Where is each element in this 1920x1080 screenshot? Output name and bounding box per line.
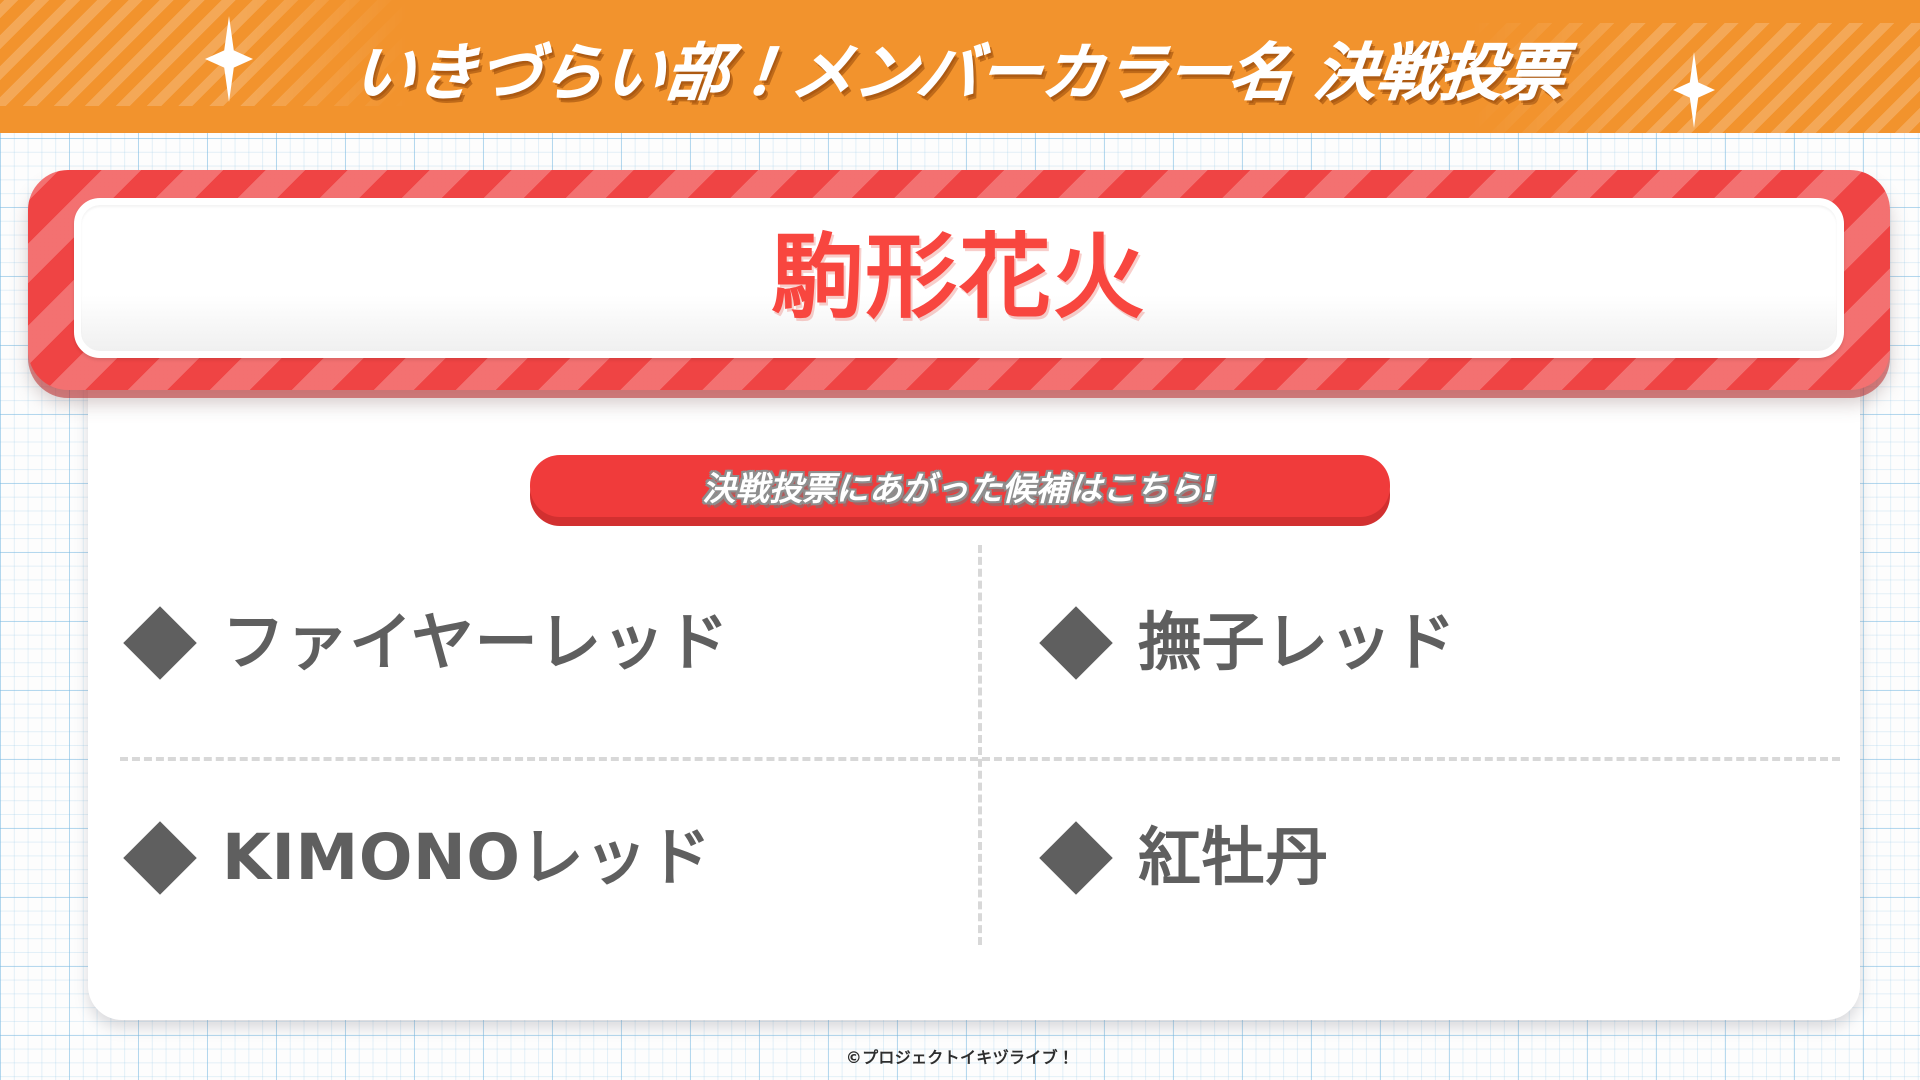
member-name-plate: 駒形花火 — [28, 170, 1890, 390]
page-background: いきづらい部！メンバーカラー名 決戦投票 駒形花火 決戦投票にあがった候補はこち… — [0, 0, 1920, 1080]
candidate-item-2[interactable]: 撫子レッド — [975, 535, 1830, 750]
candidate-item-3[interactable]: KIMONOレッド — [120, 750, 975, 965]
diamond-icon — [123, 606, 197, 680]
candidate-item-1[interactable]: ファイヤーレッド — [120, 535, 975, 750]
diamond-icon — [1039, 821, 1113, 895]
header-banner: いきづらい部！メンバーカラー名 決戦投票 — [0, 0, 1920, 133]
copyright-text: ©プロジェクトイキヅライブ！ — [846, 1048, 1074, 1067]
header-title-row: いきづらい部！メンバーカラー名 決戦投票 — [0, 0, 1920, 133]
diamond-icon — [1039, 606, 1113, 680]
page-title: いきづらい部！メンバーカラー名 決戦投票 — [349, 22, 1570, 112]
candidate-label: 撫子レッド — [1138, 611, 1456, 674]
candidate-label: 紅牡丹 — [1138, 826, 1329, 889]
member-name-plate-inner: 駒形花火 — [74, 198, 1844, 358]
diamond-icon — [123, 821, 197, 895]
candidates-ribbon: 決戦投票にあがった候補はこちら! — [530, 455, 1390, 517]
sparkle-icon — [205, 16, 253, 102]
footer: ©プロジェクトイキヅライブ！ — [0, 1044, 1920, 1068]
candidates-ribbon-label: 決戦投票にあがった候補はこちら! — [702, 462, 1217, 510]
candidate-item-4[interactable]: 紅牡丹 — [975, 750, 1830, 965]
candidate-label: ファイヤーレッド — [222, 611, 729, 674]
sparkle-icon — [1673, 52, 1715, 128]
candidate-label: KIMONOレッド — [222, 826, 711, 889]
member-name: 駒形花火 — [771, 232, 1146, 324]
candidate-list: ファイヤーレッド 撫子レッド KIMONOレッド 紅牡丹 — [120, 535, 1830, 965]
